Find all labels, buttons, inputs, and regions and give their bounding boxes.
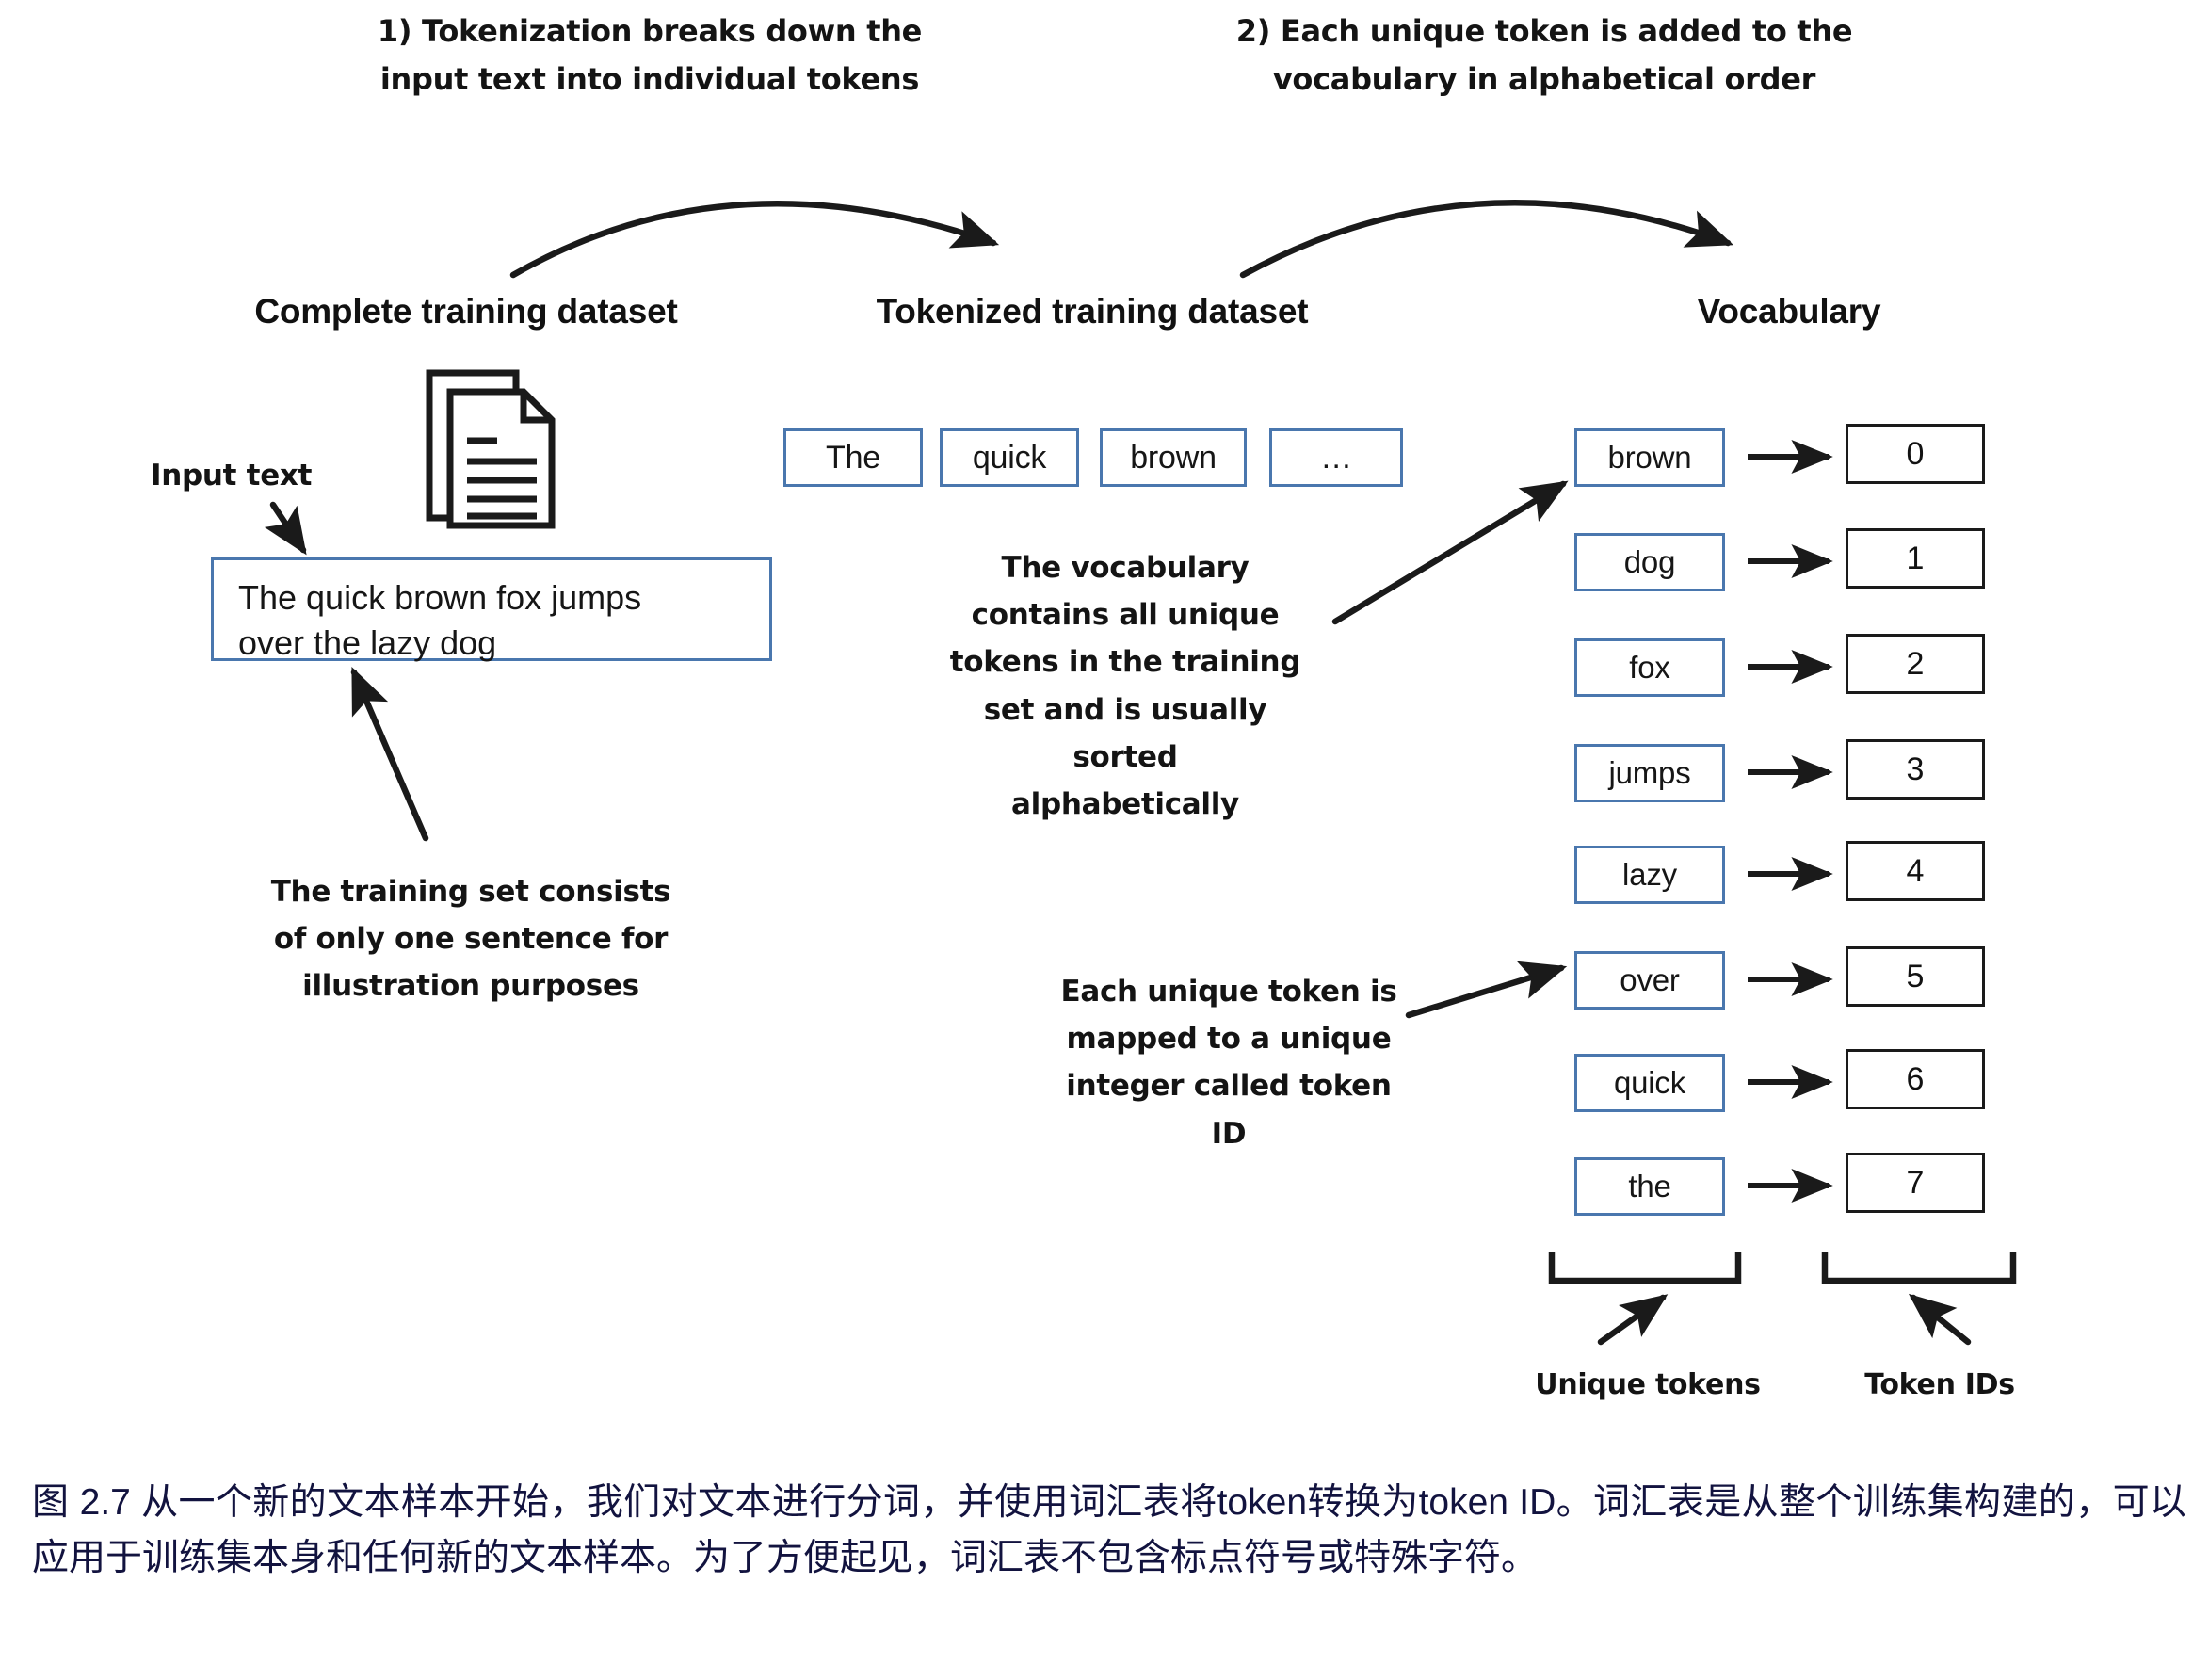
token-box-2: brown [1100, 428, 1247, 487]
vocab-token-3: jumps [1574, 744, 1725, 802]
column-title-complete-dataset: Complete training dataset [141, 292, 791, 331]
brace-label-token-ids: Token IDs [1789, 1368, 2090, 1401]
document-stack-icon [426, 369, 557, 539]
vocabulary-note-arrow [1335, 484, 1563, 622]
step-2-annotation: 2) Each unique token is added to the voc… [1215, 8, 1874, 103]
vocab-id-0: 0 [1846, 424, 1985, 484]
input-sentence-box: The quick brown fox jumps over the lazy … [211, 557, 772, 661]
token-ids-label-arrow [1913, 1298, 1968, 1342]
vocab-token-5: over [1574, 951, 1725, 1010]
training-set-note: The training set consists of only one se… [235, 868, 706, 1010]
token-id-note: Each unique token is mapped to a unique … [1055, 968, 1403, 1157]
vocab-id-3: 3 [1846, 739, 1985, 800]
bracket-unique-tokens [1552, 1252, 1738, 1281]
input-text-pointer-arrow [273, 505, 303, 550]
vocab-id-5: 5 [1846, 946, 1985, 1007]
token-box-1: quick [940, 428, 1079, 487]
input-text-label: Input text [151, 459, 312, 493]
training-set-note-arrow [354, 672, 426, 838]
vocab-token-0: brown [1574, 428, 1725, 487]
vocab-id-2: 2 [1846, 634, 1985, 694]
curved-arrow-step-1 [513, 203, 993, 275]
vocab-id-7: 7 [1846, 1153, 1985, 1213]
vocab-token-1: dog [1574, 533, 1725, 591]
vocab-id-1: 1 [1846, 528, 1985, 589]
brace-label-unique-tokens: Unique tokens [1488, 1368, 1808, 1401]
vocab-token-6: quick [1574, 1054, 1725, 1112]
figure-canvas: 1) Tokenization breaks down the input te… [0, 0, 2209, 1680]
arrows-overlay [0, 0, 2209, 1680]
step-1-annotation: 1) Tokenization breaks down the input te… [320, 8, 979, 103]
token-box-0: The [783, 428, 923, 487]
column-title-vocabulary: Vocabulary [1544, 292, 2034, 331]
token-id-note-arrow [1409, 968, 1561, 1015]
vocab-token-4: lazy [1574, 846, 1725, 904]
column-title-tokenized-dataset: Tokenized training dataset [782, 292, 1403, 331]
token-box-3: … [1269, 428, 1403, 487]
vocab-id-4: 4 [1846, 841, 1985, 901]
figure-caption: 图 2.7 从一个新的文本样本开始，我们对文本进行分词，并使用词汇表将token… [32, 1475, 2186, 1587]
vocab-id-6: 6 [1846, 1049, 1985, 1109]
bracket-token-ids [1825, 1252, 2013, 1281]
curved-arrow-step-2 [1243, 202, 1728, 275]
unique-tokens-label-arrow [1601, 1298, 1663, 1342]
vocab-token-7: the [1574, 1157, 1725, 1216]
vocab-token-2: fox [1574, 638, 1725, 697]
vocabulary-note: The vocabulary contains all unique token… [923, 544, 1328, 828]
